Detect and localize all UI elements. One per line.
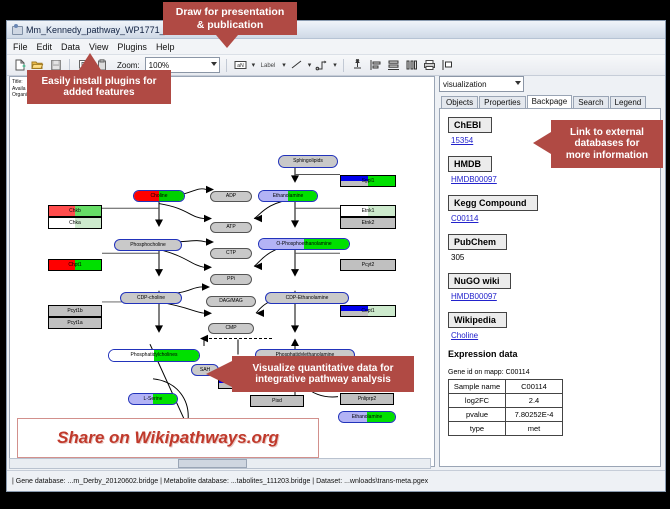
connector-dropdown[interactable]: ▾: [333, 61, 337, 69]
pathway-gene-node[interactable]: Pisd: [250, 395, 304, 407]
db-value-pubchem: 305: [451, 253, 660, 262]
node-label: CDP-Ethanolamine: [286, 296, 329, 301]
pathway-gene-node[interactable]: Sgpl1: [340, 175, 396, 187]
table-row: type met: [449, 422, 563, 436]
tab-properties[interactable]: Properties: [479, 96, 525, 108]
pathway-node[interactable]: Sphingolipids: [278, 155, 338, 168]
pathway-node[interactable]: DAG/MAG: [206, 296, 256, 307]
table-cell-key: type: [449, 422, 506, 436]
pathway-node[interactable]: ATP: [210, 222, 252, 233]
pathway-node[interactable]: Phosphatidylcholines: [108, 349, 200, 362]
callout-plugins: Easily install plugins for added feature…: [27, 70, 171, 104]
zoom-label: Zoom:: [117, 61, 140, 70]
node-label: Ethanolamine: [273, 194, 304, 199]
node-label: Chka: [69, 221, 81, 226]
node-label: CTP: [226, 251, 236, 256]
visualization-combo[interactable]: visualization: [439, 76, 524, 92]
db-header-kegg: Kegg Compound: [448, 195, 538, 211]
pathway-node[interactable]: O-Phosphoethanolamine: [258, 238, 350, 250]
menu-item-data[interactable]: Data: [61, 42, 80, 52]
pathway-gene-node[interactable]: Pcyt2: [340, 259, 396, 271]
node-label: ATP: [226, 225, 235, 230]
pathway-meta: Title: Availa Organi: [12, 79, 27, 99]
node-label: Sphingolipids: [293, 159, 323, 164]
pathway-node[interactable]: ADP: [210, 191, 252, 202]
db-header-pubchem: PubChem: [448, 234, 507, 250]
callout-share-text: Share on Wikipathways.org: [57, 428, 279, 448]
node-label: Phosphatidylcholines: [131, 353, 178, 358]
node-label: PPi: [227, 277, 235, 282]
pathway-node[interactable]: Ethanolamine: [338, 411, 396, 423]
table-row: Sample name C00114: [449, 380, 563, 394]
pathway-gene-node[interactable]: Chpt1: [48, 259, 102, 271]
menu-item-view[interactable]: View: [89, 42, 108, 52]
print-icon[interactable]: [422, 58, 437, 73]
table-cell-key: Sample name: [449, 380, 506, 394]
gene-id-line: Gene id on mapp: C00114: [448, 369, 660, 376]
table-row: pvalue 7.80252E-4: [449, 408, 563, 422]
distribute-icon[interactable]: [404, 58, 419, 73]
pathway-gene-node[interactable]: Pnliprp2: [340, 393, 394, 405]
node-label: Ethanolamine: [352, 415, 383, 420]
db-header-chebi: ChEBI: [448, 117, 492, 133]
table-cell-value: 7.80252E-4: [506, 408, 563, 422]
node-label: Choline: [151, 194, 168, 199]
table-row: log2FC 2.4: [449, 394, 563, 408]
node-label: CDP-choline: [137, 296, 165, 301]
node-label: Cept1: [361, 309, 374, 314]
callout-draw: Draw for presentation & publication: [163, 2, 297, 35]
pathway-node[interactable]: PPi: [210, 274, 252, 285]
pathway-canvas[interactable]: Title: Availa Organi: [10, 77, 434, 466]
node-label: Pcyt1a: [67, 321, 82, 326]
align-left-icon[interactable]: [368, 58, 383, 73]
toolbar-separator-2: [226, 59, 227, 72]
visualization-value: visualization: [443, 80, 487, 89]
group-icon[interactable]: [440, 58, 455, 73]
db-header-hmdb: HMDB: [448, 156, 492, 172]
tab-backpage[interactable]: Backpage: [527, 95, 573, 108]
pathway-canvas-panel[interactable]: Title: Availa Organi: [9, 76, 435, 467]
pathway-gene-node[interactable]: Pcyt1b: [48, 305, 102, 317]
pathway-edges: [10, 77, 434, 466]
pathway-gene-node[interactable]: Etnk2: [340, 217, 396, 229]
node-label: O-Phosphoethanolamine: [276, 242, 331, 247]
callout-links-arrow: [533, 132, 551, 154]
table-cell-value: 2.4: [506, 394, 563, 408]
table-cell-value: C00114: [506, 380, 563, 394]
callout-links: Link to external databases for more info…: [551, 120, 663, 168]
menu-item-file[interactable]: File: [13, 42, 28, 52]
callout-visualize-arrow: [206, 361, 232, 387]
anchor-icon[interactable]: [350, 58, 365, 73]
db-link-nugo[interactable]: HMDB00097: [451, 292, 660, 301]
node-label: Phosphocholine: [130, 243, 166, 248]
title-bar: Mm_Kennedy_pathway_WP1771_45176.gpml: [7, 21, 665, 39]
zoom-value: 100%: [149, 61, 169, 70]
pathway-gene-node[interactable]: Chkb: [48, 205, 102, 217]
db-link-kegg[interactable]: C00114: [451, 214, 660, 223]
pathway-node[interactable]: Phosphocholine: [114, 239, 182, 251]
datanode-dropdown[interactable]: ▾: [252, 61, 256, 69]
tab-legend[interactable]: Legend: [610, 96, 647, 108]
menu-item-help[interactable]: Help: [156, 42, 175, 52]
pathway-node[interactable]: L-Serine: [128, 393, 178, 405]
callout-share: Share on Wikipathways.org: [17, 418, 319, 458]
canvas-hscrollbar[interactable]: [9, 458, 431, 469]
callout-plugins-arrow: [79, 53, 101, 70]
menu-item-edit[interactable]: Edit: [37, 42, 53, 52]
menu-item-plugins[interactable]: Plugins: [117, 42, 147, 52]
pathway-node[interactable]: CMP: [208, 323, 254, 334]
app-icon: [11, 24, 22, 35]
pathway-node[interactable]: Choline: [133, 190, 185, 202]
expression-data-heading: Expression data: [448, 349, 660, 359]
svg-text:Label: Label: [261, 63, 276, 69]
label-icon[interactable]: Label: [258, 58, 278, 73]
line-dropdown[interactable]: ▾: [308, 61, 312, 69]
toolbar-separator-3: [343, 59, 344, 72]
svg-text:aN: aN: [237, 63, 244, 69]
node-label: Pcyt1b: [67, 309, 82, 314]
db-link-hmdb[interactable]: HMDB00097: [451, 175, 660, 184]
datanode-icon[interactable]: aN: [233, 58, 248, 73]
node-label: ADP: [226, 194, 236, 199]
new-file-icon[interactable]: [12, 58, 27, 73]
node-label: Pcyt2: [362, 263, 375, 268]
pathway-node[interactable]: CDP-choline: [120, 292, 182, 304]
label-dropdown[interactable]: ▾: [282, 61, 286, 69]
side-panel-tabs: Objects Properties Backpage Search Legen…: [437, 94, 663, 108]
db-header-nugo: NuGO wiki: [448, 273, 511, 289]
callout-draw-arrow: [216, 35, 238, 48]
status-text: | Gene database: ...m_Derby_20120602.bri…: [12, 478, 428, 485]
node-label: Etnk1: [362, 209, 375, 214]
db-header-wikipedia: Wikipedia: [448, 312, 507, 328]
pathway-node[interactable]: CDP-Ethanolamine: [265, 292, 349, 304]
node-label: Etnk2: [362, 221, 375, 226]
meta-line-3: Organi: [12, 92, 27, 99]
tab-objects[interactable]: Objects: [441, 96, 478, 108]
node-label: Pnliprp2: [358, 397, 376, 402]
node-label: Pisd: [272, 399, 282, 404]
expression-table: Sample name C00114 log2FC 2.4 pvalue 7.8…: [448, 379, 563, 436]
pathway-gene-node[interactable]: Cept1: [340, 305, 396, 317]
chevron-down-icon: [515, 81, 521, 85]
tab-search[interactable]: Search: [573, 96, 608, 108]
screenshot-root: Mm_Kennedy_pathway_WP1771_45176.gpml Fil…: [0, 0, 670, 509]
table-cell-key: log2FC: [449, 394, 506, 408]
node-label: CMP: [225, 326, 236, 331]
node-label: Chkb: [69, 209, 81, 214]
chevron-down-icon: [211, 62, 217, 66]
node-label: DAG/MAG: [219, 299, 243, 304]
table-cell-value: met: [506, 422, 563, 436]
pathway-node[interactable]: CTP: [210, 248, 252, 259]
node-label: Chpt1: [68, 263, 81, 268]
node-label: L-Serine: [144, 397, 163, 402]
status-bar: | Gene database: ...m_Derby_20120602.bri…: [7, 470, 665, 491]
db-link-wikipedia[interactable]: Choline: [451, 331, 660, 340]
table-cell-key: pvalue: [449, 408, 506, 422]
pathway-gene-node[interactable]: Pcyt1a: [48, 317, 102, 329]
menu-bar: File Edit Data View Plugins Help: [7, 39, 665, 55]
node-label: Sgpl1: [362, 179, 375, 184]
line-icon[interactable]: [289, 58, 304, 73]
pathway-node[interactable]: Ethanolamine: [258, 190, 318, 202]
pathway-gene-node[interactable]: Etnk1: [340, 205, 396, 217]
pathway-gene-node[interactable]: Chka: [48, 217, 102, 229]
align-center-icon[interactable]: [386, 58, 401, 73]
callout-visualize: Visualize quantitative data for integrat…: [232, 356, 414, 392]
connector-icon[interactable]: [314, 58, 329, 73]
scrollbar-thumb[interactable]: [178, 459, 247, 468]
